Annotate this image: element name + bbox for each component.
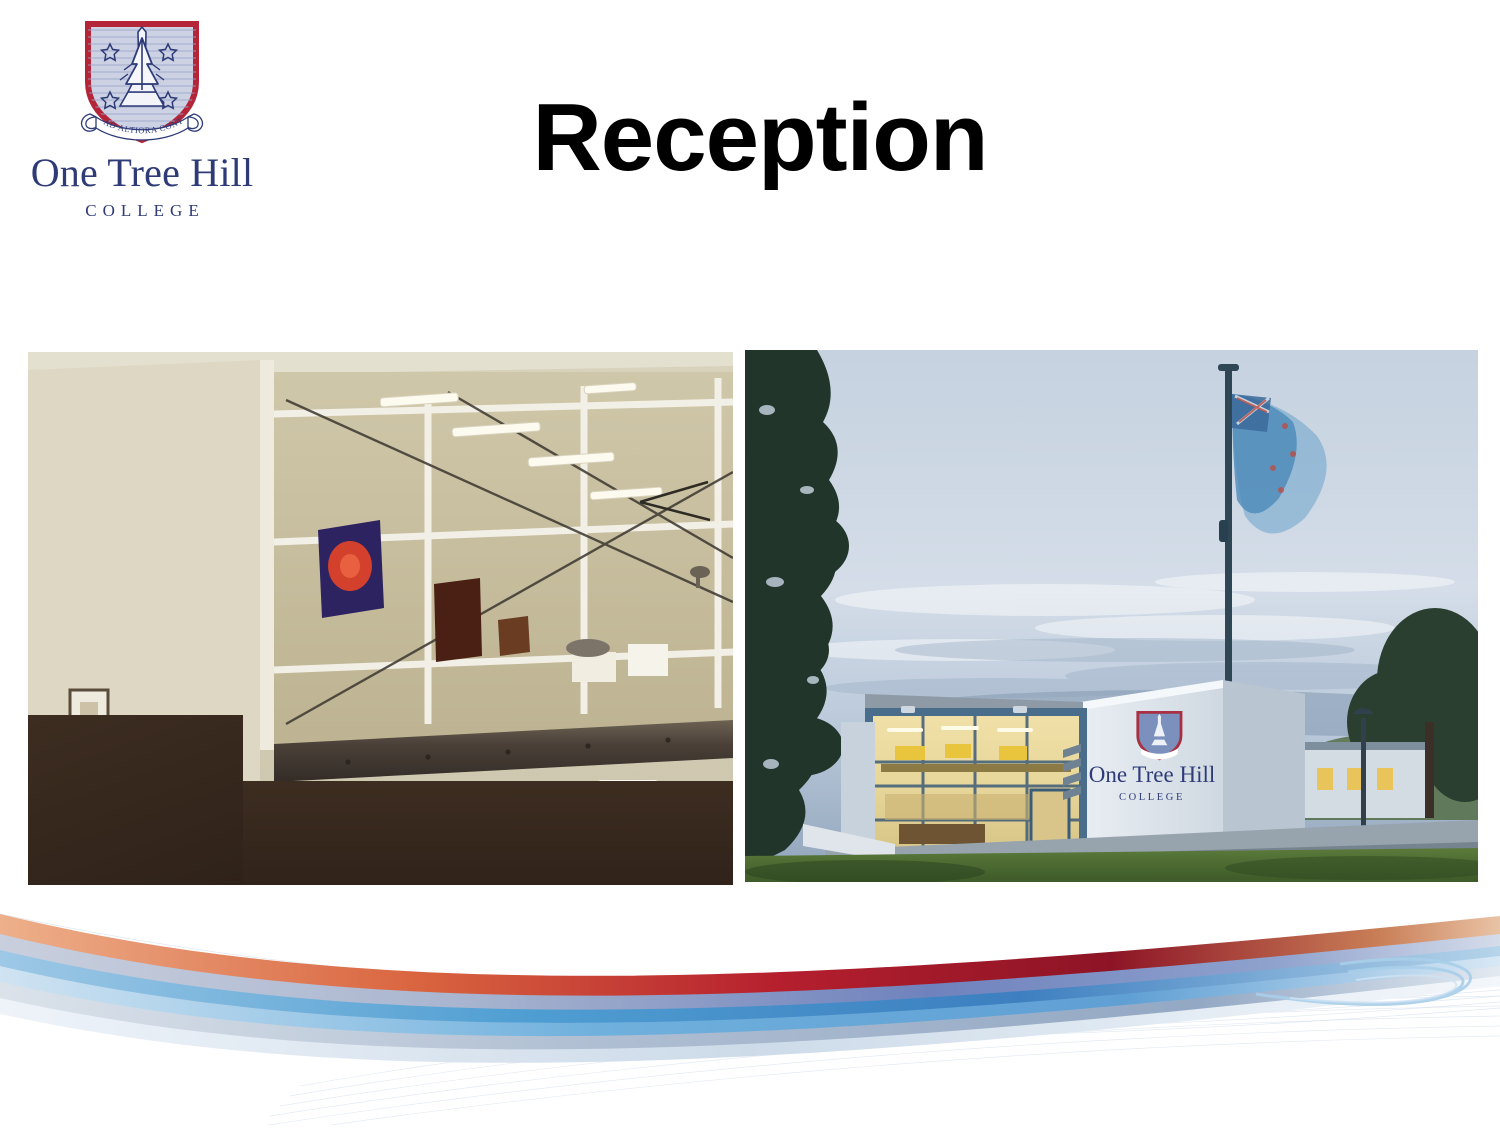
reception-floor-left	[28, 715, 243, 885]
building-wordmark: One Tree Hill	[1089, 762, 1216, 787]
reception-interior-photo	[28, 352, 733, 885]
building-sub-wordmark: COLLEGE	[1119, 792, 1185, 803]
logo-wordmark: One Tree Hill	[24, 152, 260, 194]
lit-glass-atrium	[869, 706, 1083, 852]
page-title: Reception	[270, 86, 1250, 190]
logo-sub-wordmark: COLLEGE	[24, 201, 260, 221]
college-crest-icon: AD ALTIORA CONTENDE	[76, 18, 208, 146]
college-logo: AD ALTIORA CONTENDE One Tree Hill COLLEG…	[24, 18, 260, 223]
entrance-exterior-artwork: One Tree Hill COLLEGE	[745, 350, 1478, 882]
ribbon-swoosh	[0, 890, 1500, 1125]
college-entrance-exterior-photo: One Tree Hill COLLEGE	[745, 350, 1478, 882]
slide-canvas: AD ALTIORA CONTENDE One Tree Hill COLLEG…	[0, 0, 1500, 1125]
